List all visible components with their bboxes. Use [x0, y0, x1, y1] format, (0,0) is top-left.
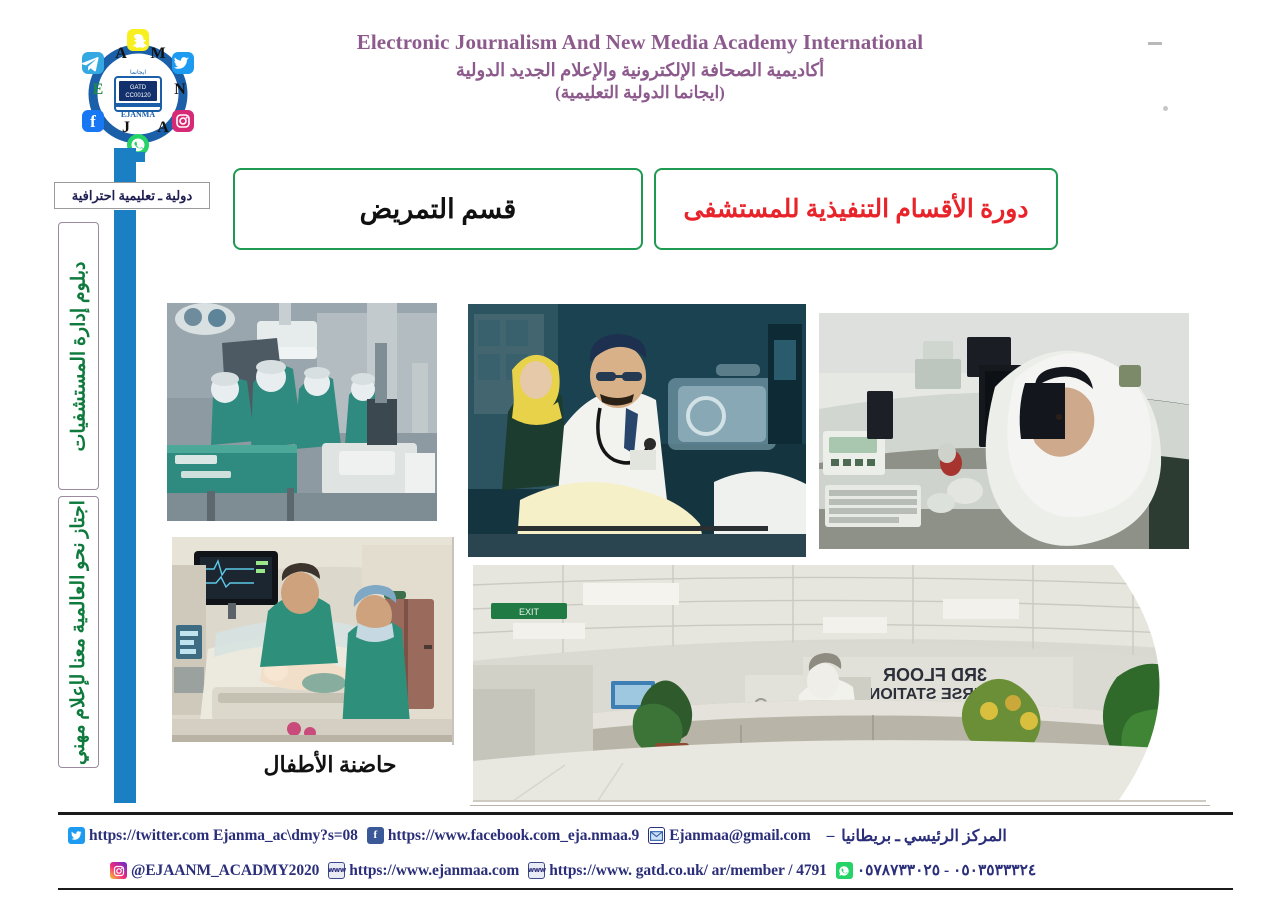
footer-gatd-item[interactable]: www https://www. gatd.co.uk/ ar/member /… [528, 862, 827, 880]
department-title-box: قسم التمريض [233, 168, 643, 250]
incubator-caption: حاضنة الأطفال [185, 752, 475, 778]
website-icon: www [328, 862, 345, 879]
footer-bottom-rule [58, 888, 1233, 890]
footer-separator: – [827, 827, 835, 845]
svg-text:A: A [115, 45, 127, 62]
academy-logo: GATD CC00120 ايجانما EJANMA A M N A J E [68, 22, 208, 162]
divider-line-horizontal-b [470, 805, 1210, 806]
whatsapp-icon [836, 862, 853, 879]
instagram-icon [172, 110, 194, 132]
svg-text:M: M [150, 45, 165, 62]
slide-canvas: GATD CC00120 ايجانما EJANMA A M N A J E [0, 0, 1280, 904]
footer-facebook-item[interactable]: f https://www.facebook.com_eja.nmaa.9 [367, 827, 639, 845]
svg-text:N: N [174, 81, 186, 98]
decorative-mark-dot [1163, 106, 1168, 111]
international-badge: دولية ـ تعليمية احترافية [54, 182, 210, 209]
facebook-icon: f [367, 827, 384, 844]
footer-separator-text: – [827, 827, 835, 845]
footer-instagram-item[interactable]: @EJAANM_ACADMY2020 [110, 862, 319, 880]
footer-twitter-item[interactable]: https://twitter.com Ejanma_ac\dmy?s=08 [68, 827, 358, 845]
operating-room-photo [167, 303, 437, 521]
telegram-icon [81, 52, 104, 74]
footer-row-2: @EJAANM_ACADMY2020 www https://www.ejanm… [58, 853, 1238, 888]
footer-instagram-text: @EJAANM_ACADMY2020 [131, 862, 319, 880]
sidebar-label-slogan-text: اجتاز نحو العالمية معنا لإعلام مهني [67, 500, 90, 765]
footer-email-text: Ejanmaa@gmail.com [669, 827, 810, 845]
department-title-text: قسم التمريض [360, 194, 517, 225]
divider-line-horizontal-a [473, 800, 1206, 802]
svg-text:EXIT: EXIT [519, 607, 540, 617]
academy-title-english: Electronic Journalism And New Media Acad… [330, 30, 950, 55]
doctor-examining-patient-photo [468, 304, 806, 557]
footer-email-item[interactable]: Ejanmaa@gmail.com [648, 827, 810, 845]
footer-phone-text: ٠٥٠٣٥٣٣٣٢٤ - ٠٥٧٨٧٣٣٠٢٥ [857, 861, 1036, 880]
sidebar-label-diploma-text: دبلوم إدارة المستشفيات [67, 261, 90, 451]
facebook-icon: f [82, 110, 104, 132]
neonatal-incubator-photo [172, 537, 452, 742]
svg-text:GATD: GATD [130, 85, 147, 91]
footer-website-item[interactable]: www https://www.ejanmaa.com [328, 862, 519, 880]
footer-headquarters-item: المركز الرئيسي ـ بريطانيا [841, 826, 1006, 846]
decorative-mark-top [1148, 42, 1162, 45]
footer-headquarters-text: المركز الرئيسي ـ بريطانيا [841, 826, 1006, 846]
footer-facebook-text: https://www.facebook.com_eja.nmaa.9 [388, 827, 639, 845]
svg-text:EJANMA: EJANMA [121, 110, 155, 119]
divider-line-vertical [452, 537, 454, 745]
footer: https://twitter.com Ejanma_ac\dmy?s=08 f… [58, 818, 1238, 888]
svg-text:CC00120: CC00120 [125, 93, 151, 99]
sidebar-label-slogan: اجتاز نحو العالمية معنا لإعلام مهني [58, 496, 99, 768]
vertical-accent-bar [114, 148, 136, 803]
twitter-icon [172, 52, 194, 74]
sidebar-label-diploma: دبلوم إدارة المستشفيات [58, 222, 99, 490]
footer-whatsapp-item[interactable]: ٠٥٠٣٥٣٣٣٢٤ - ٠٥٧٨٧٣٣٠٢٥ [836, 861, 1036, 880]
course-title-box: دورة الأقسام التنفيذية للمستشفى [654, 168, 1058, 250]
svg-text:J: J [122, 119, 130, 136]
academy-subtitle-arabic: (ايجانما الدولية التعليمية) [330, 82, 950, 105]
svg-text:f: f [90, 112, 96, 131]
snapchat-icon [127, 29, 149, 51]
svg-text:E: E [93, 81, 104, 98]
footer-top-rule [58, 812, 1233, 815]
footer-gatd-text: https://www. gatd.co.uk/ ar/member / 479… [549, 862, 827, 880]
nurse-station-sign-line1: 3RD FLOOR [883, 665, 987, 685]
svg-text:ايجانما: ايجانما [130, 69, 146, 76]
mail-icon [648, 827, 665, 844]
academy-title-arabic: أكاديمية الصحافة الإلكترونية والإعلام ال… [330, 58, 950, 82]
nurse-at-workstation-photo [819, 313, 1215, 558]
academy-title: Electronic Journalism And New Media Acad… [330, 30, 950, 105]
twitter-icon [68, 827, 85, 844]
website-icon-2: www [528, 862, 545, 879]
header: GATD CC00120 ايجانما EJANMA A M N A J E [0, 0, 1280, 160]
footer-website-text: https://www.ejanmaa.com [349, 862, 519, 880]
nurse-station-corridor-photo: EXIT 3RD FLOOR NURSE STATION ARABIC [473, 565, 1206, 808]
svg-text:A: A [157, 119, 169, 136]
footer-twitter-text: https://twitter.com Ejanma_ac\dmy?s=08 [89, 827, 358, 845]
course-title-text: دورة الأقسام التنفيذية للمستشفى [684, 194, 1029, 224]
footer-row-1: https://twitter.com Ejanma_ac\dmy?s=08 f… [58, 818, 1238, 853]
instagram-icon [110, 862, 127, 879]
